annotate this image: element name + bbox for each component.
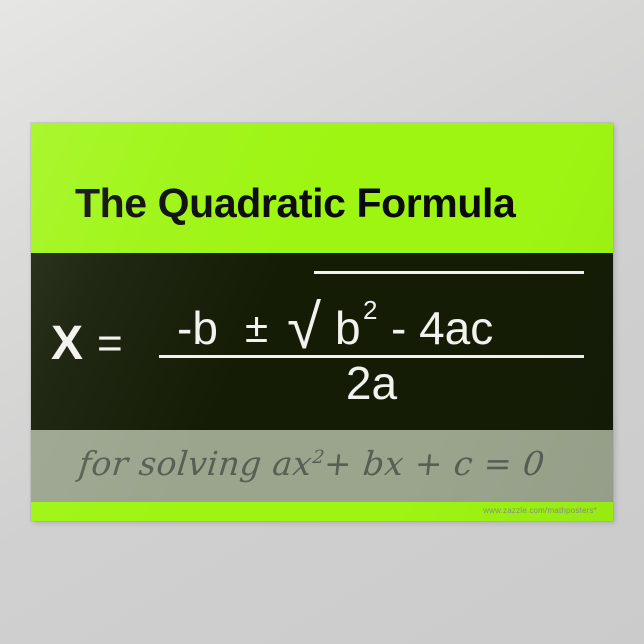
caption-prefix: for solving ax xyxy=(77,444,314,483)
radical-vinculum xyxy=(314,271,584,274)
caption-band: for solving ax2+ bx + c = 0 xyxy=(31,430,613,502)
watermark-url: www.zazzle.com/mathposters* xyxy=(483,506,597,515)
formula-variable-x: X xyxy=(51,320,83,368)
caption-text: for solving ax2+ bx + c = 0 xyxy=(77,444,547,483)
formula-denominator: 2a xyxy=(159,359,584,407)
page-title: The Quadratic Formula xyxy=(75,183,515,224)
formula-numerator: -b ± √ b 2 - 4ac xyxy=(159,267,584,353)
quadratic-formula: X = -b ± √ b 2 - 4ac 2a xyxy=(31,253,613,430)
radicand-exponent-2: 2 xyxy=(363,297,377,323)
quadratic-formula-poster[interactable]: The Quadratic Formula X = -b ± √ b 2 - 4… xyxy=(31,123,613,521)
numerator-neg-b: -b xyxy=(177,305,218,351)
poster-page: The Quadratic Formula X = -b ± √ b 2 - 4… xyxy=(0,0,644,644)
formula-fraction: -b ± √ b 2 - 4ac 2a xyxy=(159,267,584,353)
formula-band: X = -b ± √ b 2 - 4ac 2a xyxy=(31,253,613,430)
formula-equals-sign: = xyxy=(97,322,123,366)
radicand-remainder: - 4ac xyxy=(391,305,493,351)
title-band: The Quadratic Formula xyxy=(31,123,613,253)
plus-minus-icon: ± xyxy=(245,307,268,349)
radical-sign-icon: √ xyxy=(287,297,321,359)
caption-suffix: + bx + c = 0 xyxy=(322,444,547,483)
radicand-base-b: b xyxy=(335,305,361,351)
footer-band: www.zazzle.com/mathposters* xyxy=(31,502,613,521)
